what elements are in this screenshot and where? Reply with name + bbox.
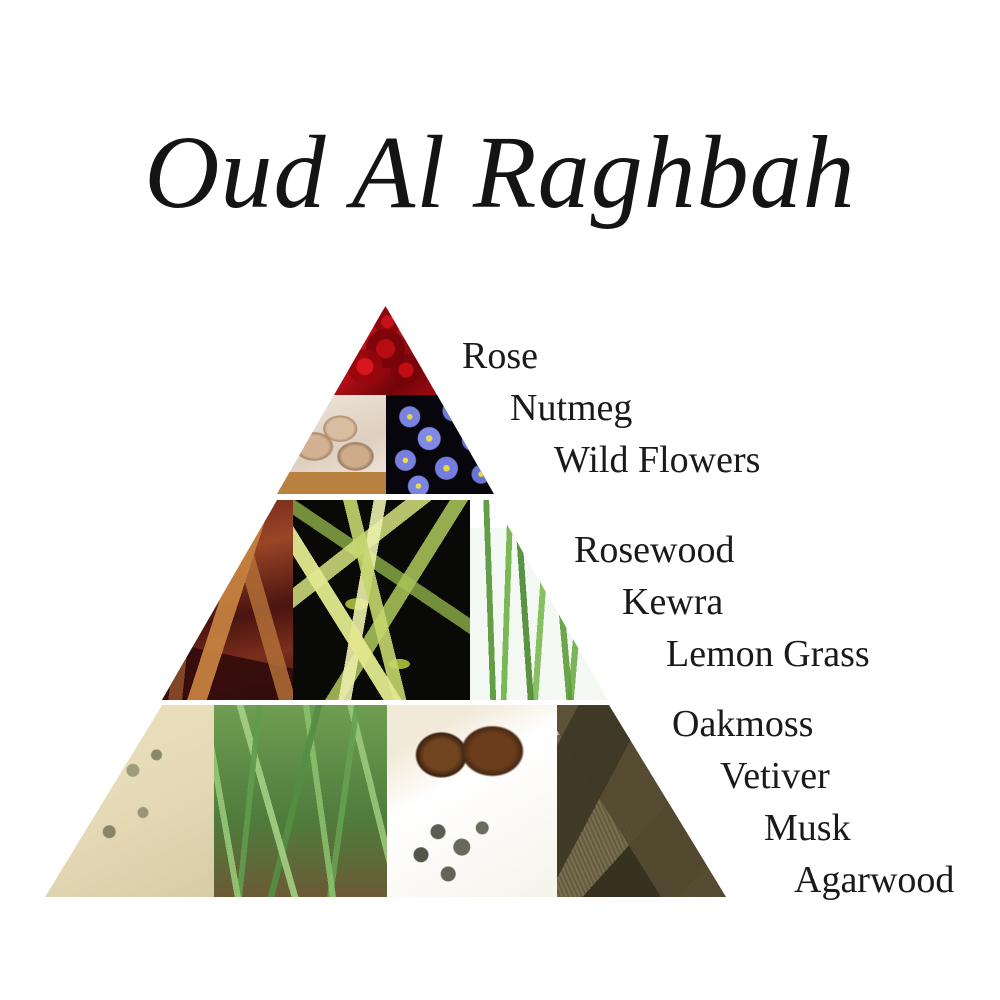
tier-base-panels xyxy=(45,705,726,897)
note-wild-flowers: Wild Flowers xyxy=(554,434,760,486)
nutmeg-photo xyxy=(277,395,386,494)
heart-notes-list: Rosewood Kewra Lemon Grass xyxy=(574,524,870,680)
pyramid-tier-top-cap xyxy=(334,306,437,395)
roses-photo xyxy=(334,306,437,395)
fragrance-pyramid-page: Oud Al Raghbah xyxy=(0,0,1000,1000)
base-notes-list: Oakmoss Vetiver Musk Agarwood xyxy=(672,698,954,906)
note-musk: Musk xyxy=(764,802,954,854)
top-notes-list: Rose Nutmeg Wild Flowers xyxy=(462,330,760,486)
note-oakmoss: Oakmoss xyxy=(672,698,954,750)
vetiver-photo xyxy=(214,705,387,897)
note-rosewood: Rosewood xyxy=(574,524,870,576)
note-nutmeg: Nutmeg xyxy=(510,382,760,434)
pyramid-tier-base xyxy=(45,705,726,897)
note-kewra: Kewra xyxy=(622,576,870,628)
tier-top-cap-panels xyxy=(334,306,437,395)
pyramid-tier-middle xyxy=(162,500,608,700)
note-lemon-grass: Lemon Grass xyxy=(666,628,870,680)
rosewood-photo xyxy=(162,500,293,700)
kewra-photo xyxy=(293,500,470,700)
musk-photo xyxy=(387,705,556,897)
note-agarwood: Agarwood xyxy=(794,854,954,906)
note-rose: Rose xyxy=(462,330,760,382)
note-vetiver: Vetiver xyxy=(720,750,954,802)
oakmoss-photo xyxy=(45,705,214,897)
tier-middle-panels xyxy=(162,500,608,700)
